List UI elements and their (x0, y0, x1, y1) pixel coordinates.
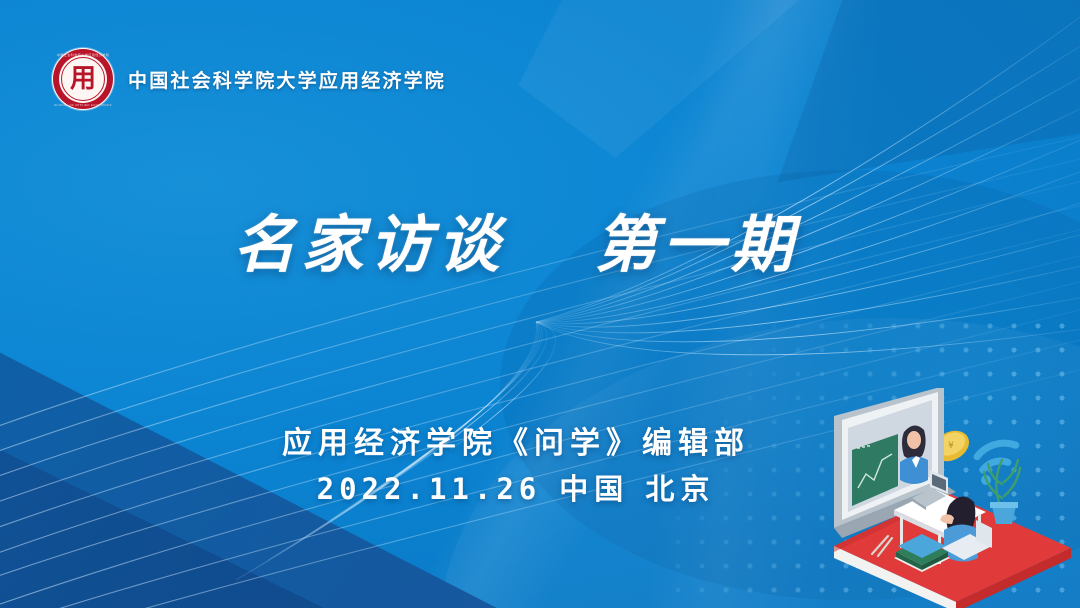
event-date: 2022.11.26 (317, 472, 542, 506)
university-seal-logo: 中国社会科学院大学应用经济学院 SCHOOL OF APPLIED ECONOM… (52, 48, 114, 110)
title-part-1: 名家访谈 (233, 208, 505, 281)
title-part-2: 第一期 (595, 208, 799, 281)
event-location: 中国 北京 (559, 472, 715, 506)
organization-name: 中国社会科学院大学应用经济学院 (128, 66, 446, 93)
page-title: 名家访谈 第一期 (0, 214, 1056, 276)
wifi-icon (976, 441, 1017, 470)
header: 中国社会科学院大学应用经济学院 SCHOOL OF APPLIED ECONOM… (52, 48, 446, 110)
svg-text:¥: ¥ (948, 441, 954, 451)
online-learning-isometric-illustration: ¥ (826, 388, 1076, 608)
logo-mark-character: 用 (52, 48, 114, 110)
plant-pot (992, 506, 1016, 524)
presentation-title-slide: 中国社会科学院大学应用经济学院 SCHOOL OF APPLIED ECONOM… (0, 0, 1080, 608)
